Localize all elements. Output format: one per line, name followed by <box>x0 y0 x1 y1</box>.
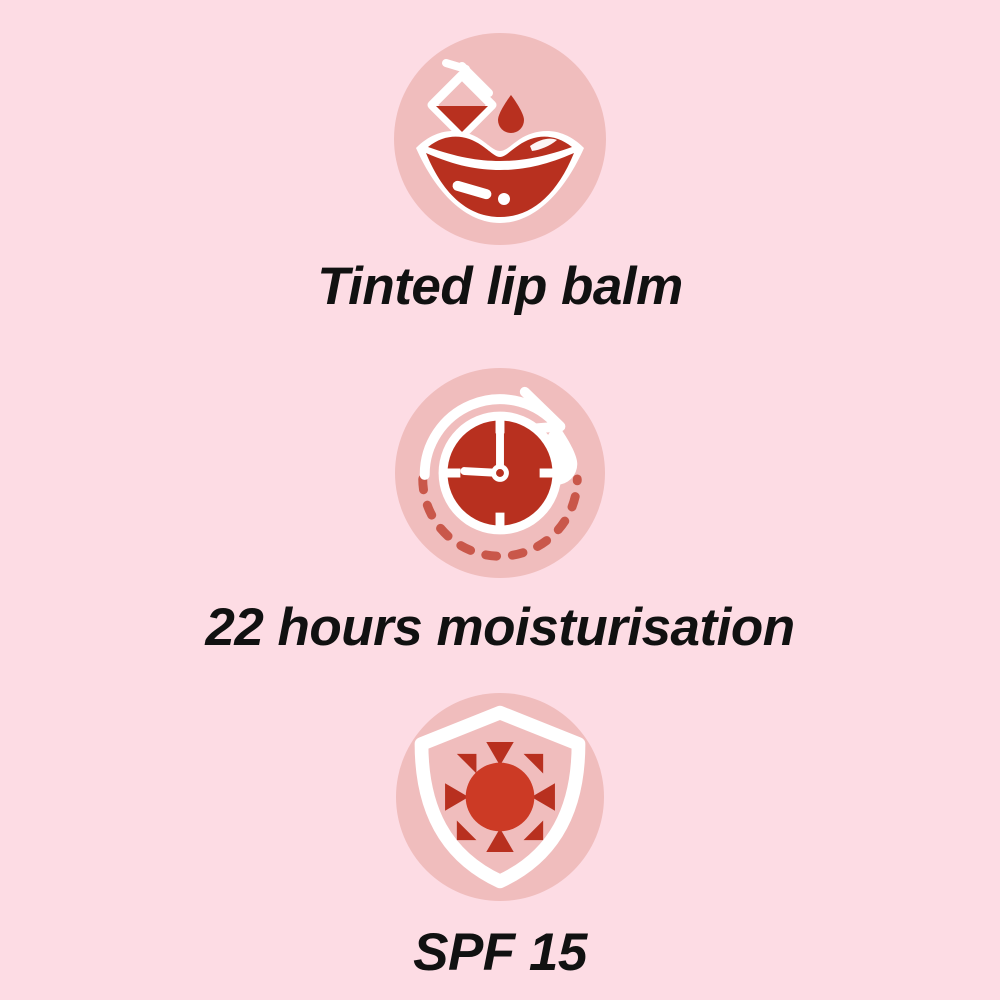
droplet-icon <box>498 95 524 133</box>
benefit-label-tinted-lip-balm: Tinted lip balm <box>317 259 683 315</box>
benefit-item-moisturisation: 22 hours moisturisation <box>0 368 1000 656</box>
benefit-item-spf: SPF 15 <box>0 693 1000 981</box>
benefit-label-moisturisation: 22 hours moisturisation <box>205 600 794 656</box>
tinted-lip-balm-icon <box>394 33 606 245</box>
moisturisation-clock-icon <box>395 368 605 578</box>
benefits-panel: Tinted lip balm <box>0 0 1000 1000</box>
benefit-item-tinted-lip-balm: Tinted lip balm <box>0 33 1000 315</box>
lips-icon <box>416 131 584 223</box>
sun-icon <box>466 763 535 832</box>
benefit-label-spf: SPF 15 <box>413 925 587 981</box>
applicator-wand-icon <box>432 63 492 135</box>
spf-shield-icon <box>396 693 604 901</box>
